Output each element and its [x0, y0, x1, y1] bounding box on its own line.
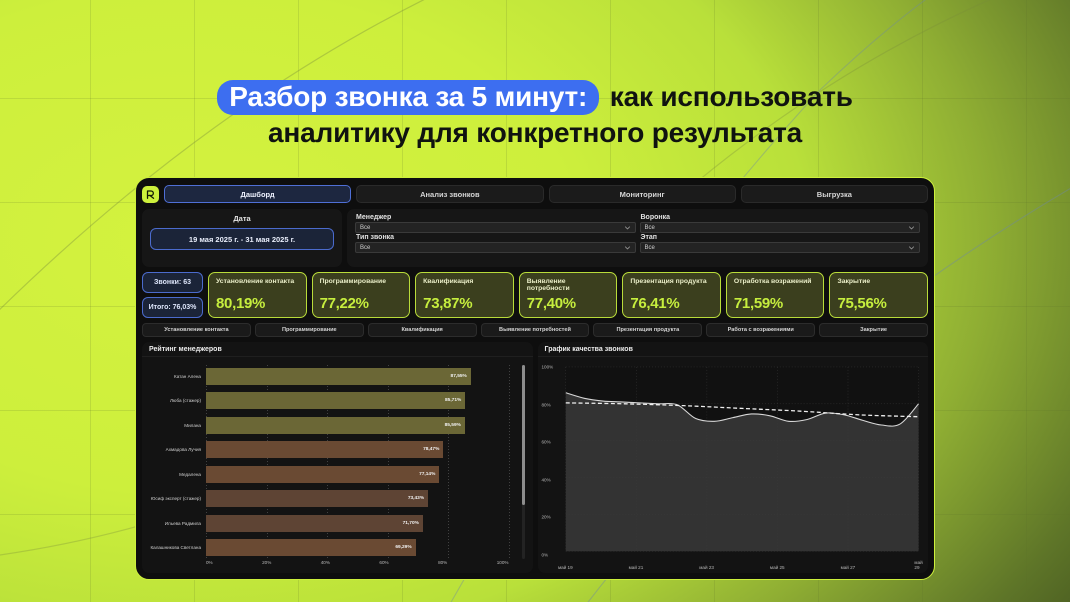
stage-filter-value: Все: [645, 245, 655, 251]
line-chart-plot: [540, 361, 926, 567]
calltype-filter-value: Все: [360, 245, 370, 251]
date-filter-label: Дата: [233, 214, 250, 223]
headline-line-1: Разбор звонка за 5 минут: как использова…: [0, 80, 1070, 115]
stage-button-programming[interactable]: Программирование: [255, 323, 364, 337]
filter-column-right: Воронка Все Этап Все: [640, 214, 921, 262]
kpi-card-value: 76,41%: [630, 295, 713, 312]
bar-track: 87,55%: [206, 368, 509, 385]
bar-fill: 78,47%: [206, 441, 443, 458]
chevron-down-icon: [908, 244, 915, 251]
line-y-tick: 40%: [542, 477, 551, 482]
line-x-tick: май 21: [629, 565, 644, 570]
chevron-down-icon: [624, 224, 631, 231]
funnel-filter-label: Воронка: [640, 214, 921, 221]
bar-row[interactable]: Медалена77,14%: [144, 466, 531, 483]
bar-fill: 69,29%: [206, 539, 416, 556]
manager-filter-label: Менеджер: [355, 214, 636, 221]
page-title: Разбор звонка за 5 минут: как использова…: [0, 80, 1070, 149]
kpi-calls-count: Звонки: 63: [142, 272, 203, 293]
kpi-total-score: Итого: 76,03%: [142, 297, 203, 318]
line-x-tick: май 25: [770, 565, 785, 570]
stage-filter-select[interactable]: Все: [640, 242, 921, 253]
bar-row[interactable]: Ильева Радмила71,70%: [144, 515, 531, 532]
bar-track: 77,14%: [206, 466, 509, 483]
line-x-tick: май 29: [914, 560, 922, 570]
stage-filter-label: Этап: [640, 234, 921, 241]
stage-button-qualification[interactable]: Квалификация: [368, 323, 477, 337]
bar-chart: Катан Алена87,55%Люба (стажер)85,71%Мила…: [144, 361, 531, 571]
filters-row: Дата 19 мая 2025 г. - 31 мая 2025 г. Мен…: [142, 209, 928, 267]
call-quality-panel: График качества звонков 0%20%40%60%80%10…: [538, 342, 929, 573]
stage-button-bar: Установление контакта Программирование К…: [142, 323, 928, 337]
filter-column-left: Менеджер Все Тип звонка Все: [355, 214, 636, 262]
stage-button-contact[interactable]: Установление контакта: [142, 323, 251, 337]
bar-x-tick: 20%: [262, 560, 271, 569]
tab-export[interactable]: Выгрузка: [741, 185, 928, 203]
bar-row[interactable]: Ахмадова Лучия78,47%: [144, 441, 531, 458]
line-y-tick: 80%: [542, 402, 551, 407]
bar-x-tick: 40%: [321, 560, 330, 569]
headline-line-2: аналитику для конкретного результата: [0, 117, 1070, 148]
bar-category-label: Юсиф эксперт (стажер): [144, 496, 206, 501]
bar-category-label: Ильева Радмила: [144, 521, 206, 526]
line-y-tick: 100%: [542, 365, 554, 370]
kpi-card-value: 73,87%: [423, 295, 506, 312]
poster-canvas: Разбор звонка за 5 минут: как использова…: [0, 0, 1070, 602]
bar-value-label: 85,59%: [445, 423, 461, 428]
bar-fill: 87,55%: [206, 368, 471, 385]
bar-value-label: 77,14%: [419, 472, 435, 477]
bar-track: 85,71%: [206, 392, 509, 409]
kpi-card-title: Презентация продукта: [630, 278, 713, 285]
kpi-card-value: 71,59%: [734, 295, 817, 312]
bar-x-tick: 80%: [438, 560, 447, 569]
bar-row[interactable]: Люба (стажер)85,71%: [144, 392, 531, 409]
bar-value-label: 73,43%: [408, 496, 424, 501]
calltype-filter-select[interactable]: Все: [355, 242, 636, 253]
bar-x-tick: 100%: [497, 560, 509, 569]
bar-category-label: Медалена: [144, 472, 206, 477]
kpi-card-contact[interactable]: Установление контакта 80,19%: [208, 272, 307, 318]
bar-value-label: 71,70%: [403, 521, 419, 526]
kpi-card-value: 77,40%: [527, 295, 610, 312]
app-logo-icon: [142, 186, 159, 203]
manager-filter-select[interactable]: Все: [355, 222, 636, 233]
stage-button-needs[interactable]: Выявление потребностей: [481, 323, 590, 337]
line-x-tick: май 23: [699, 565, 714, 570]
manager-filter-value: Все: [360, 225, 370, 231]
kpi-card-objections[interactable]: Отработка возражений 71,59%: [726, 272, 825, 318]
kpi-card-value: 80,19%: [216, 295, 299, 312]
bar-value-label: 78,47%: [423, 447, 439, 452]
kpi-card-qualification[interactable]: Квалификация 73,87%: [415, 272, 514, 318]
bar-track: 71,70%: [206, 515, 509, 532]
bar-track: 73,43%: [206, 490, 509, 507]
line-x-tick: май 19: [558, 565, 573, 570]
kpi-card-title: Отработка возражений: [734, 278, 817, 285]
manager-rating-title: Рейтинг менеджеров: [142, 342, 533, 357]
bar-fill: 85,59%: [206, 417, 465, 434]
tab-dashboard[interactable]: Дашборд: [164, 185, 351, 203]
bar-track: 78,47%: [206, 441, 509, 458]
line-x-tick: май 27: [841, 565, 856, 570]
funnel-filter-value: Все: [645, 225, 655, 231]
bar-x-tick: 60%: [379, 560, 388, 569]
bar-value-label: 87,55%: [451, 374, 467, 379]
bar-x-tick: 0%: [206, 560, 213, 569]
stage-button-presentation[interactable]: Презентация продукта: [593, 323, 702, 337]
kpi-card-title: Квалификация: [423, 278, 506, 285]
stage-button-objections[interactable]: Работа с возражениями: [706, 323, 815, 337]
manager-rating-panel: Рейтинг менеджеров Катан Алена87,55%Люба…: [142, 342, 533, 573]
bar-fill: 85,71%: [206, 392, 465, 409]
bar-category-label: Калашникова Светлана: [144, 545, 206, 550]
top-navigation: Дашборд Анализ звонков Мониторинг Выгруз…: [142, 184, 928, 204]
bar-chart-x-axis: 0%20%40%60%80%100%: [206, 560, 509, 569]
dashboard-window: Дашборд Анализ звонков Мониторинг Выгруз…: [135, 177, 935, 580]
kpi-card-title: Выявление потребности: [527, 278, 610, 293]
bar-row[interactable]: Калашникова Светлана69,29%: [144, 539, 531, 556]
manager-rating-body: Катан Алена87,55%Люба (стажер)85,71%Мила…: [142, 357, 533, 573]
bar-row[interactable]: Юсиф эксперт (стажер)73,43%: [144, 490, 531, 507]
bar-fill: 77,14%: [206, 466, 439, 483]
kpi-card-presentation[interactable]: Презентация продукта 76,41%: [622, 272, 721, 318]
bar-category-label: Милана: [144, 423, 206, 428]
bar-fill: 71,70%: [206, 515, 423, 532]
kpi-card-title: Закрытие: [837, 278, 920, 285]
funnel-filter-select[interactable]: Все: [640, 222, 921, 233]
line-chart: 0%20%40%60%80%100% май 19май 21май 23май…: [540, 361, 927, 571]
kpi-card-programming[interactable]: Программирование 77,22%: [312, 272, 411, 318]
chevron-down-icon: [624, 244, 631, 251]
kpi-card-needs[interactable]: Выявление потребности 77,40%: [519, 272, 618, 318]
kpi-summary-group: Звонки: 63 Итого: 76,03%: [142, 272, 203, 318]
date-range-input[interactable]: 19 мая 2025 г. - 31 мая 2025 г.: [150, 228, 334, 250]
bar-row[interactable]: Катан Алена87,55%: [144, 368, 531, 385]
kpi-card-closing[interactable]: Закрытие 75,56%: [829, 272, 928, 318]
tab-monitoring[interactable]: Мониторинг: [549, 185, 736, 203]
kpi-card-title: Программирование: [320, 278, 403, 285]
chevron-down-icon: [908, 224, 915, 231]
kpi-card-value: 77,22%: [320, 295, 403, 312]
bar-row[interactable]: Милана85,59%: [144, 417, 531, 434]
bar-chart-scrollbar[interactable]: [522, 365, 525, 559]
kpi-row: Звонки: 63 Итого: 76,03% Установление ко…: [142, 272, 928, 318]
tab-call-analysis[interactable]: Анализ звонков: [356, 185, 543, 203]
kpi-card-title: Установление контакта: [216, 278, 299, 285]
stage-button-closing[interactable]: Закрытие: [819, 323, 928, 337]
bar-track: 85,59%: [206, 417, 509, 434]
date-filter-panel: Дата 19 мая 2025 г. - 31 мая 2025 г.: [142, 209, 342, 267]
headline-highlight: Разбор звонка за 5 минут:: [217, 80, 599, 115]
bar-category-label: Катан Алена: [144, 374, 206, 379]
call-quality-body: 0%20%40%60%80%100% май 19май 21май 23май…: [538, 357, 929, 573]
bar-track: 69,29%: [206, 539, 509, 556]
bar-category-label: Люба (стажер): [144, 398, 206, 403]
charts-row: Рейтинг менеджеров Катан Алена87,55%Люба…: [142, 342, 928, 573]
line-y-tick: 60%: [542, 440, 551, 445]
line-y-tick: 0%: [542, 552, 549, 557]
line-y-tick: 20%: [542, 515, 551, 520]
select-filters-panel: Менеджер Все Тип звонка Все Воронка Все: [347, 209, 928, 267]
headline-rest: как использовать: [599, 81, 853, 112]
calltype-filter-label: Тип звонка: [355, 234, 636, 241]
call-quality-title: График качества звонков: [538, 342, 929, 357]
bar-category-label: Ахмадова Лучия: [144, 447, 206, 452]
bar-value-label: 85,71%: [445, 398, 461, 403]
bar-value-label: 69,29%: [395, 545, 411, 550]
kpi-card-value: 75,56%: [837, 295, 920, 312]
bar-fill: 73,43%: [206, 490, 428, 507]
bar-chart-plot: Катан Алена87,55%Люба (стажер)85,71%Мила…: [144, 361, 531, 571]
scrollbar-thumb[interactable]: [522, 365, 525, 505]
